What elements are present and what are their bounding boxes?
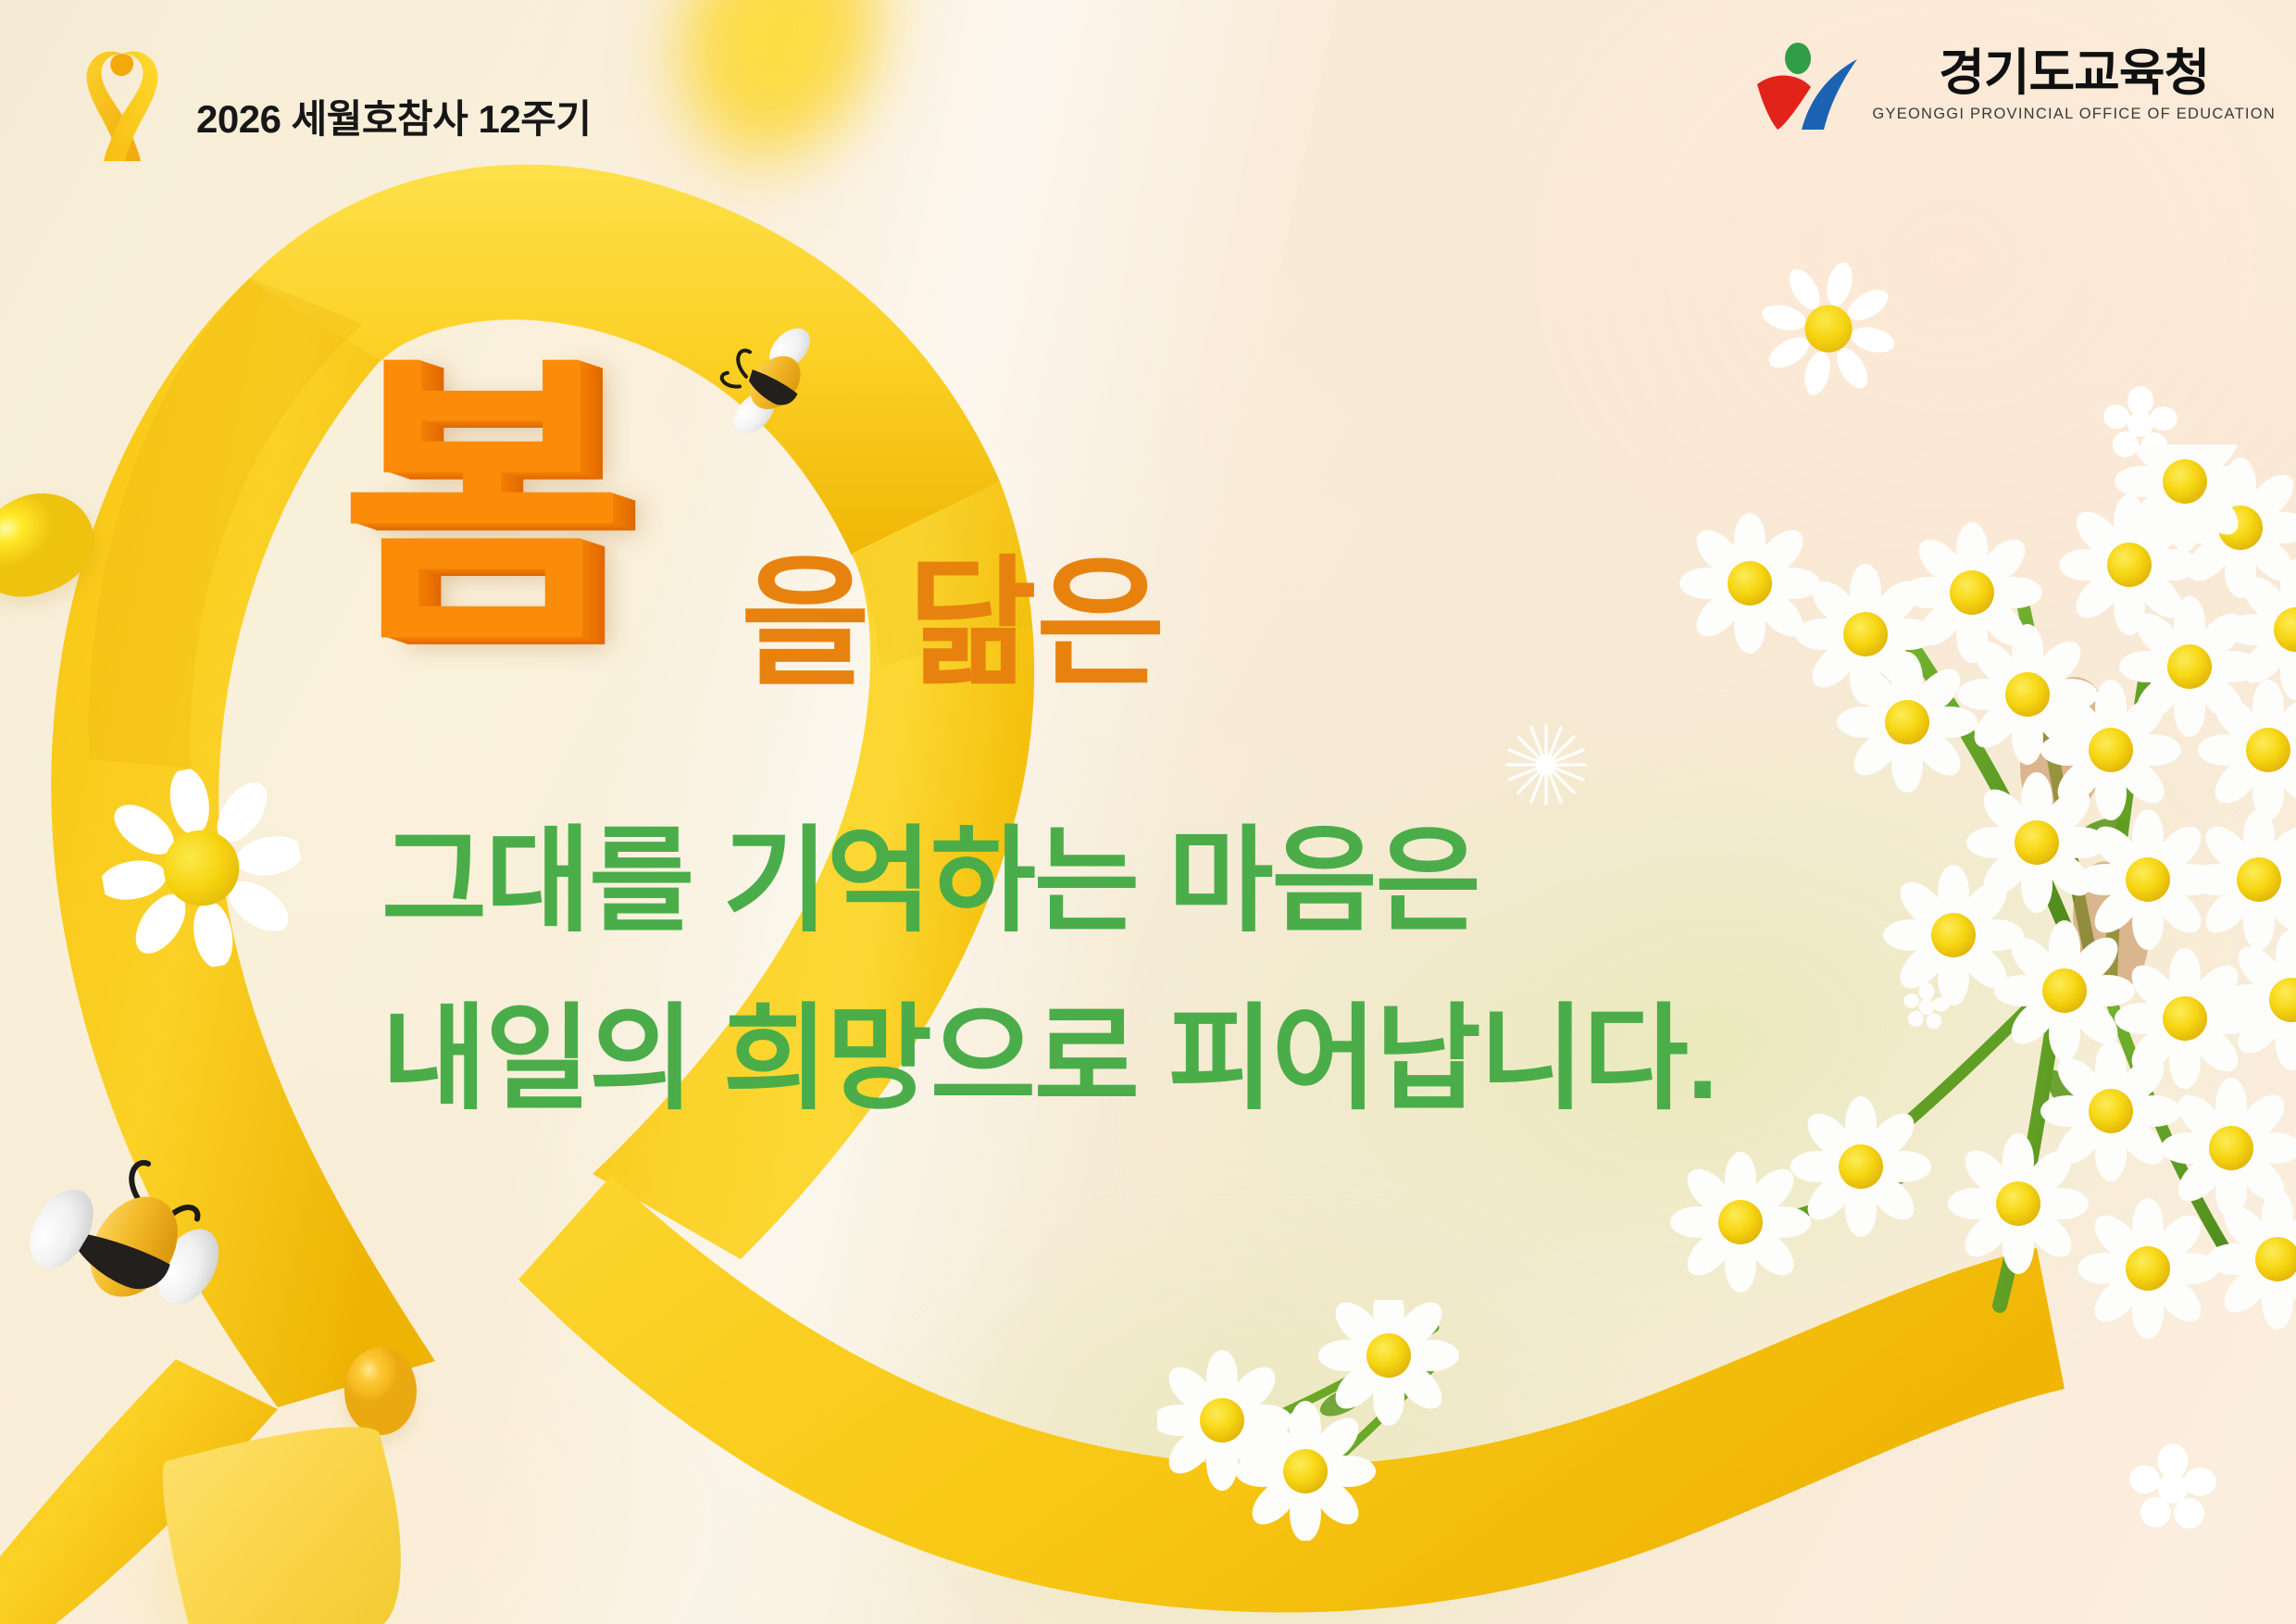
- headline-line2: 그대를 기억하는 마음은: [381, 787, 1479, 954]
- headline-line3: 내일의 희망으로 피어납니다.: [381, 965, 1716, 1131]
- daisy-cluster-lower-right: [1157, 1300, 1463, 1541]
- gyeonggi-education-logo: 경기도교육청 GYEONGGI PROVINCIAL OFFICE OF EDU…: [1757, 41, 2276, 130]
- mini-flower-icon-bottom-right: [2129, 1443, 2216, 1530]
- memorial-anniversary-text: 2026 세월호참사 12주기: [196, 88, 591, 144]
- poster-canvas: 2026 세월호참사 12주기 경기도교육청 GYEONGGI PROVINCI…: [0, 0, 2296, 1624]
- logo-korean-name: 경기도교육청: [1939, 48, 2209, 98]
- gyeonggi-education-figure-icon: [1757, 41, 1859, 130]
- headline-line1-rest: 을 닮은: [741, 554, 1165, 694]
- logo-text-block: 경기도교육청 GYEONGGI PROVINCIAL OFFICE OF EDU…: [1872, 48, 2276, 122]
- logo-english-name: GYEONGGI PROVINCIAL OFFICE OF EDUCATION: [1872, 106, 2276, 122]
- yellow-ribbon-icon: [76, 44, 165, 163]
- sparkle-burst-icon: [1502, 720, 1591, 809]
- headline-3d-word-bom: 봄: [341, 381, 611, 632]
- daisy-bouquet-right: [1629, 444, 2296, 1370]
- yellow-blob-center: [344, 1347, 417, 1435]
- daisy-flower-left: [86, 753, 317, 983]
